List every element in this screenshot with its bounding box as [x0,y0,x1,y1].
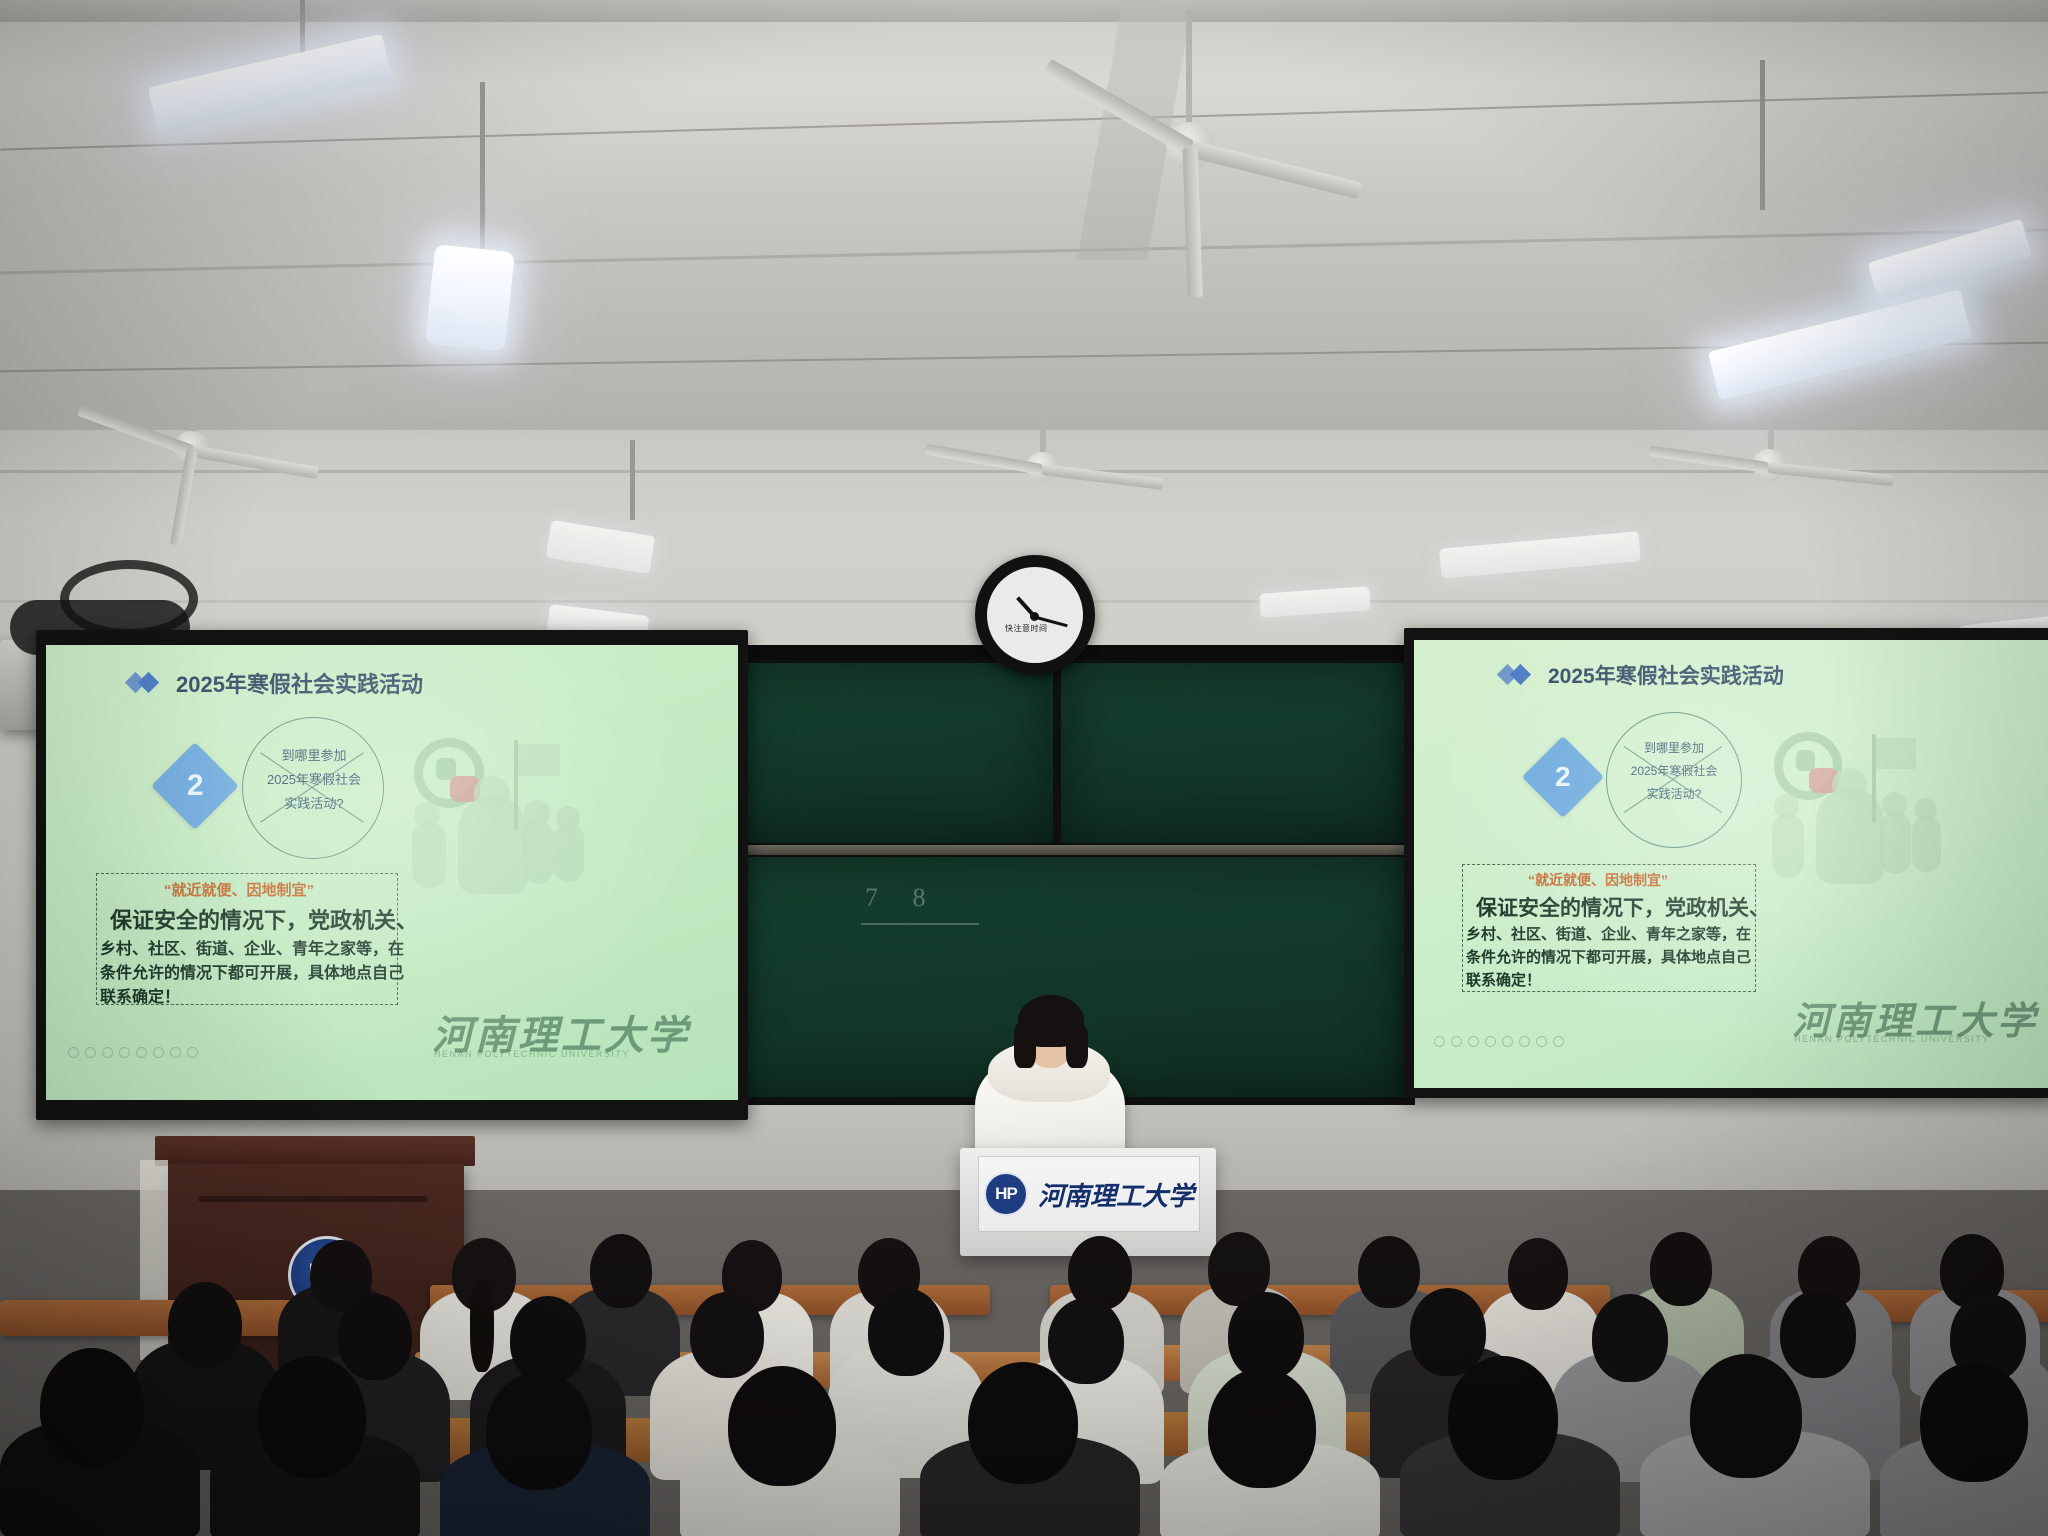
ceiling-fan [940,400,1170,520]
hpu-emblem-icon [984,1172,1028,1216]
audience-head [1228,1292,1304,1380]
audience-head [338,1294,412,1380]
question-line: 实践活动? [1614,786,1734,803]
audience-head [968,1362,1078,1484]
slide-body-line: 保证安全的情况下，党政机关、 [1476,892,1770,922]
audience-head [1920,1362,2028,1482]
audience-head [1508,1238,1568,1310]
slide-body-line: 乡村、社区、街道、企业、青年之家等，在 [100,935,404,959]
light-hanger [480,82,485,267]
slide-left: 2025年寒假社会实践活动 2 到哪里参加 2025年寒假社会 实践活动? [46,645,738,1100]
lecture-hall-scene: 7 8 快注意时间 2025年寒假社会实践活动 2 到哪里参加 2025年寒假社… [0,0,2048,1536]
slide-body-line: 联系确定！ [100,983,180,1007]
blackboard-panel [723,663,1053,843]
blue-double-diamond-icon [1500,665,1538,685]
lectern-top [155,1136,475,1166]
ceiling-fan [90,375,320,505]
audience-head [1690,1354,1802,1478]
audience-head [1208,1368,1316,1488]
bench-row [0,1300,300,1336]
audience-head [1048,1298,1124,1384]
audience-head [1780,1290,1856,1378]
audience-head [1650,1232,1712,1306]
wall-clock: 快注意时间 [975,555,1095,675]
projection-screen-left: 2025年寒假社会实践活动 2 到哪里参加 2025年寒假社会 实践活动? [46,645,738,1100]
blue-double-diamond-icon [128,673,166,693]
slide-title: 2025年寒假社会实践活动 [176,667,423,699]
audience-head [868,1288,944,1376]
slide-body-line: 条件允许的情况下都可开展，具体地点自己 [100,959,404,983]
question-line: 2025年寒假社会 [1604,763,1744,780]
audience-head [168,1282,242,1368]
slide-body-line: 保证安全的情况下，党政机关、 [110,903,418,935]
step-number-badge: 2 [151,742,239,830]
audience-head [486,1372,592,1490]
slide-body-line: 联系确定！ [1466,969,1541,990]
slide-body-line: 条件允许的情况下都可开展，具体地点自己 [1466,946,1751,967]
step-number-badge: 2 [1522,736,1604,818]
question-line: 到哪里参加 [252,747,376,766]
audience-head [590,1234,652,1308]
slide-illustration [1766,724,1966,910]
audience-ponytail [470,1280,494,1372]
slide-watermark-sub: HENAN POLYTECHNIC UNIVERSITY [434,1049,630,1059]
blackboard-chalk-note: 7 8 [865,883,940,913]
fluorescent-light [425,244,515,352]
audience-head [40,1348,144,1466]
speaker-hair [1066,1024,1088,1068]
podium-logo-panel: 河南理工大学 [978,1156,1200,1232]
question-line: 2025年寒假社会 [242,771,386,790]
slide-title: 2025年寒假社会实践活动 [1548,660,1784,690]
slide-quote: “就近就便、因地制宜” [1528,870,1668,890]
audience-head [1410,1288,1486,1376]
slide-body-line: 乡村、社区、街道、企业、青年之家等，在 [1466,923,1751,944]
light-hanger [1760,60,1765,210]
slide-quote: “就近就便、因地制宜” [164,879,314,900]
ceiling-fan [1060,10,1320,220]
slide-footer-dots [68,1047,198,1058]
blackboard-panel [1061,663,1407,843]
ceiling-fan [1660,395,1900,520]
audience-head [1592,1294,1668,1382]
audience-head [258,1356,366,1478]
slide-right: 2025年寒假社会实践活动 2 到哪里参加 2025年寒假社会 实践活动? [1414,640,2048,1088]
slide-watermark-sub: HENAN POLYTECHNIC UNIVERSITY [1794,1034,1990,1044]
lectern-groove [198,1196,428,1202]
audience-head [510,1296,586,1384]
audience-head [1448,1356,1558,1480]
audience-head [690,1292,764,1378]
slide-footer-dots [1434,1036,1564,1047]
question-line: 到哪里参加 [1614,740,1734,757]
projector-cables [60,560,198,638]
clock-brand: 快注意时间 [1005,623,1048,634]
slide-illustration [406,730,606,920]
podium-logo-text: 河南理工大学 [1038,1176,1194,1213]
audience-head [1358,1236,1420,1308]
projection-screen-right: 2025年寒假社会实践活动 2 到哪里参加 2025年寒假社会 实践活动? [1414,640,2048,1088]
light-hanger [630,440,635,520]
audience-head [728,1366,836,1486]
speaker-hair [1014,1022,1036,1068]
ceiling-beam [0,0,2048,22]
question-line: 实践活动? [252,795,376,814]
